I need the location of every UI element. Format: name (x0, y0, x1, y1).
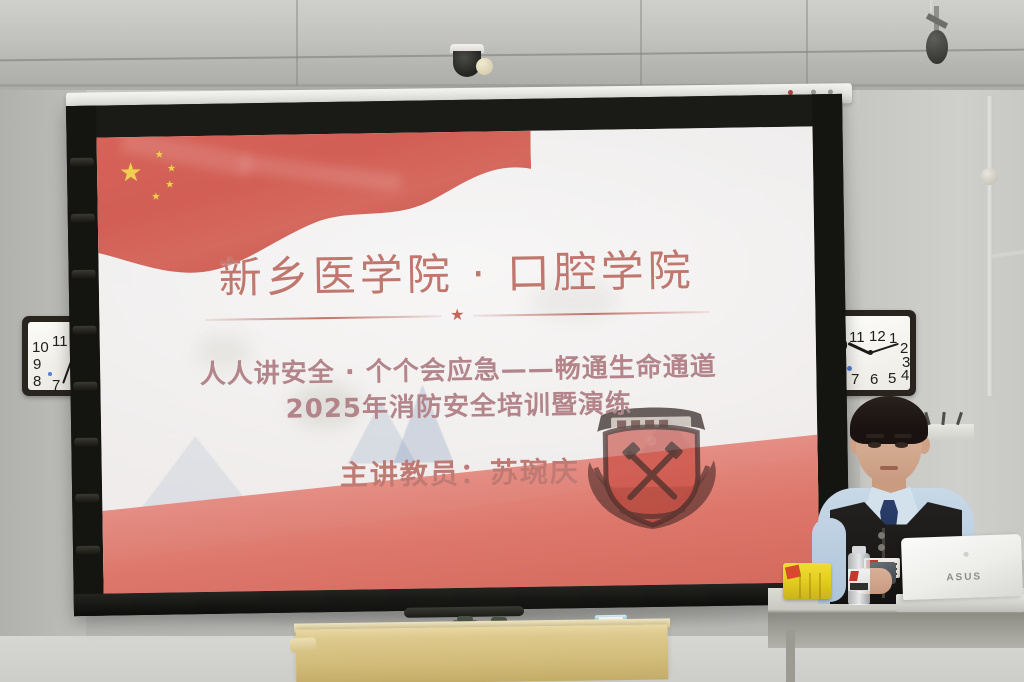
podium-side-lip (290, 637, 317, 652)
flag-star-icon: ★ (165, 180, 174, 190)
ceiling-seam (806, 0, 808, 86)
person-eye (868, 442, 881, 448)
clock-numeral: 7 (851, 372, 859, 387)
clock-numeral: 11 (52, 334, 68, 349)
clock-center-pin (868, 350, 873, 355)
screen-tensioner (72, 270, 96, 279)
screen-tensioner (72, 326, 96, 335)
flag-star-icon: ★ (119, 159, 143, 185)
divider-star-icon: ★ (450, 308, 465, 324)
laptop-hinge-dot-icon (963, 552, 968, 557)
slide-title: 新乡医学院 · 口腔学院 (98, 234, 815, 307)
person-hair (850, 396, 928, 444)
person-eyebrow (894, 434, 912, 438)
ceiling-seam (296, 0, 298, 86)
toolbox-rib (799, 573, 801, 599)
screen-tensioner (75, 494, 99, 503)
clock-brand-dot (847, 366, 852, 371)
clock-numeral: 10 (32, 340, 49, 355)
conduit-fitting (981, 168, 998, 185)
screen-tensioner (71, 214, 95, 223)
wooden-podium (296, 624, 669, 682)
laptop-brand-logo: ASUS (946, 571, 982, 583)
clock-numeral: 5 (888, 371, 896, 386)
person-mouth (880, 466, 898, 470)
yellow-toolbox (783, 563, 831, 599)
screen-tensioner (76, 546, 100, 555)
screen-tensioner (70, 158, 94, 167)
ceiling-sensor-device (924, 6, 950, 76)
toolbox-rib (819, 573, 821, 599)
vest-zipper-pull (878, 544, 885, 551)
flag-star-icon: ★ (151, 193, 160, 203)
asus-laptop[interactable]: ASUS (896, 536, 1024, 614)
clock-numeral: 6 (870, 372, 878, 387)
bottle-cap (852, 546, 866, 554)
divider-line-left (205, 315, 441, 321)
flag-star-icon: ★ (167, 164, 176, 174)
clock-numeral: 9 (33, 357, 41, 372)
divider-line-right (474, 311, 710, 317)
wall-conduit-pipe (986, 96, 993, 396)
desk-leg (786, 630, 795, 682)
ceiling-seam (640, 0, 642, 86)
laptop-lid: ASUS (901, 534, 1023, 600)
ceiling (0, 0, 1024, 96)
person-eyebrow (866, 434, 884, 438)
screen-tensioner (73, 382, 97, 391)
clock-brand-dot (48, 372, 52, 376)
projected-slide-area: ★ ★ ★ ★ ★ (97, 126, 820, 593)
clock-numeral: 4 (901, 368, 909, 383)
clock-numeral: 8 (33, 374, 41, 389)
person-eye (895, 442, 908, 448)
projection-screen: ★ ★ ★ ★ ★ (66, 94, 850, 616)
clock-numeral: 7 (52, 378, 60, 390)
classroom-photo-scene: 10 11 12 9 8 7 6 5 10 11 12 1 2 9 3 8 7 … (0, 0, 1024, 682)
flag-star-icon: ★ (155, 151, 164, 161)
dome-security-camera-icon (450, 44, 484, 78)
camera-ir-bulb (476, 58, 493, 75)
ceiling-seam (0, 49, 1024, 62)
sensor-body (926, 30, 948, 64)
bottle-label-text (850, 583, 868, 590)
vest-zipper-pull (878, 532, 885, 539)
toolbox-rib (809, 573, 811, 599)
screen-tensioner (74, 438, 98, 447)
clock-numeral: 12 (869, 329, 886, 344)
slide: ★ ★ ★ ★ ★ (97, 126, 820, 593)
water-bottle (848, 553, 870, 605)
